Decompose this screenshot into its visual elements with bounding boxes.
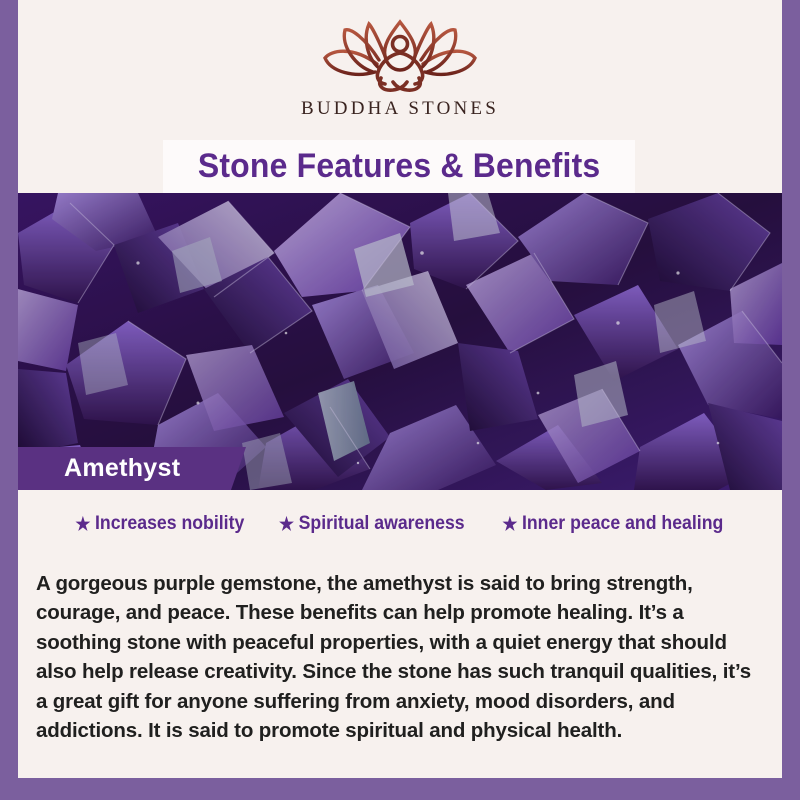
stone-name-label: Amethyst (64, 447, 180, 490)
page-title: Stone Features & Benefits (198, 147, 601, 186)
headline-band: Stone Features & Benefits (163, 140, 635, 193)
star-icon: ★ (279, 515, 294, 533)
star-icon: ★ (75, 515, 90, 533)
benefits-list: ★ Increases nobility ★ Spiritual awarene… (18, 513, 782, 535)
lotus-meditation-figure-icon (315, 16, 485, 94)
description-paragraph: A gorgeous purple gemstone, the amethyst… (36, 569, 766, 746)
content-card: BUDDHA STONES Stone Features & Benefits (18, 0, 782, 778)
amethyst-crystal-cluster-photo (18, 193, 782, 490)
brand-name: BUDDHA STONES (301, 98, 499, 120)
benefit-label: Spiritual awareness (299, 513, 465, 535)
hero-image (18, 193, 782, 490)
brand-header: BUDDHA STONES (18, 0, 782, 140)
benefit-item-1: ★ Increases nobility (75, 513, 244, 535)
benefit-label: Increases nobility (95, 513, 244, 535)
benefit-item-2: ★ Spiritual awareness (279, 513, 465, 535)
star-icon: ★ (502, 515, 517, 533)
stone-name-ribbon: Amethyst (18, 447, 253, 490)
benefit-label: Inner peace and healing (522, 513, 723, 535)
benefit-item-3: ★ Inner peace and healing (502, 513, 723, 535)
poster: BUDDHA STONES Stone Features & Benefits (0, 0, 800, 800)
